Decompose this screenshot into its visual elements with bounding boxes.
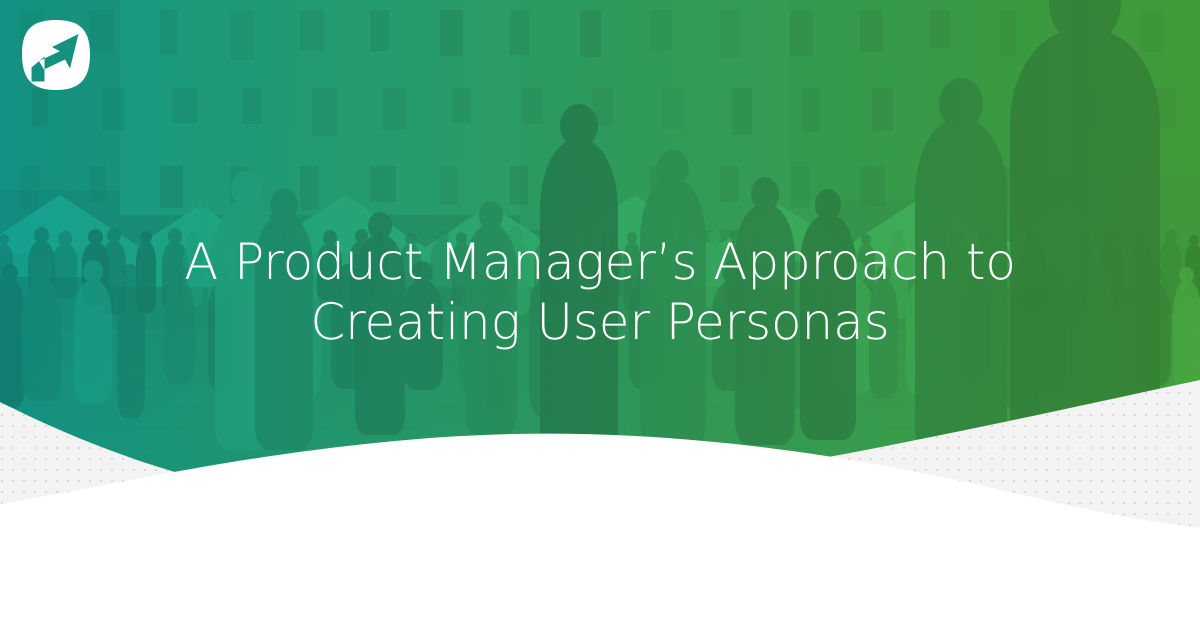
wave-white	[0, 380, 1200, 630]
social-share-card: A Product Manager’s Approach to Creating…	[0, 0, 1200, 630]
page-title: A Product Manager’s Approach to Creating…	[0, 232, 1200, 352]
arrow-squircle-logo[interactable]	[22, 20, 90, 90]
wave-white-path	[0, 434, 1200, 630]
